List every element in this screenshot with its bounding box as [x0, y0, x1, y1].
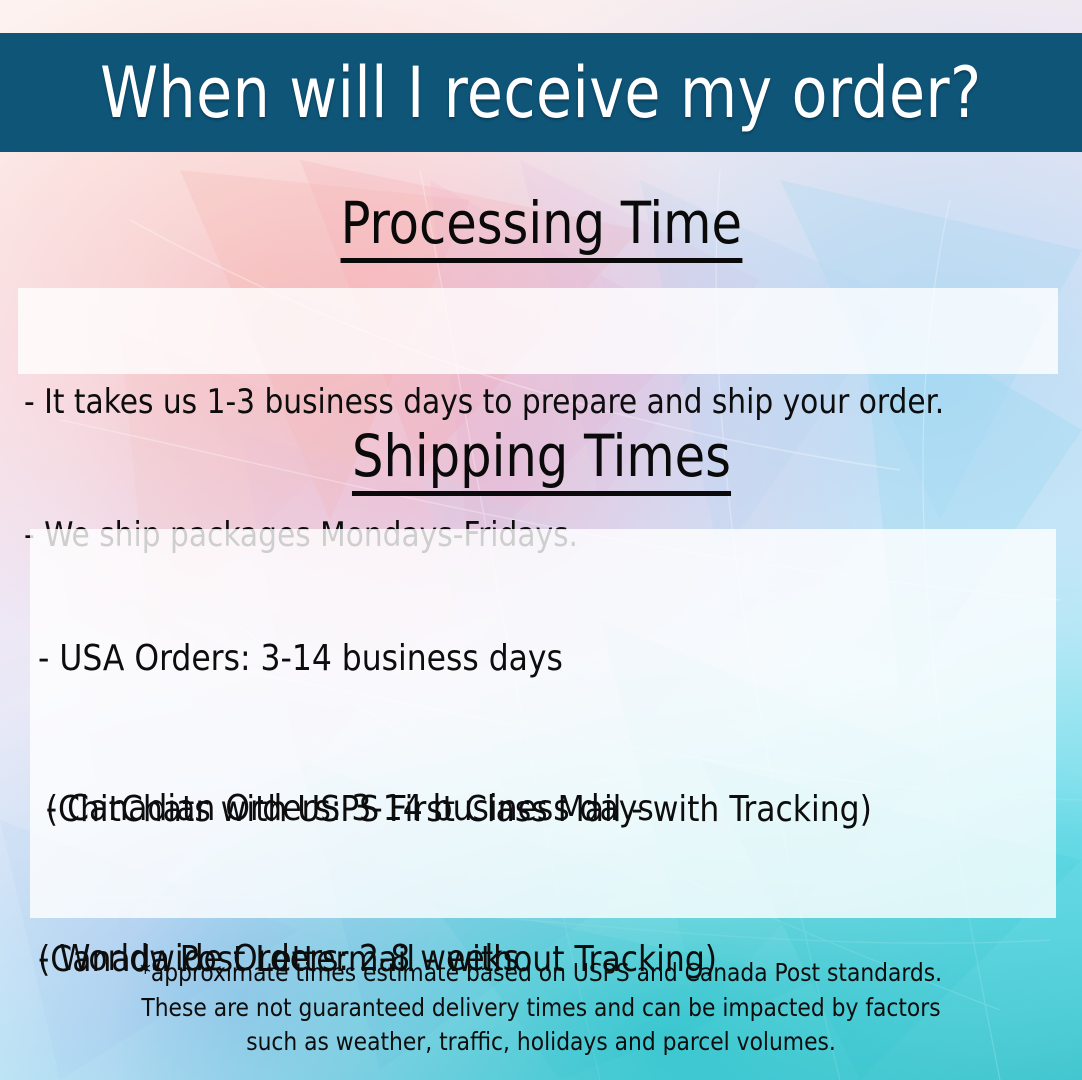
shipping-usa-line-1: - USA Orders: 3-14 business days	[38, 634, 872, 684]
footer-disclaimer-line-2: These are not guaranteed delivery times …	[16, 991, 1066, 1026]
footer-disclaimer-line-1: *approximate times estimate based on USP…	[16, 956, 1066, 991]
shipping-info-graphic: When will I receive my order? Processing…	[0, 0, 1082, 1080]
section-heading-shipping-times: Shipping Times	[0, 427, 1082, 496]
footer-disclaimer: *approximate times estimate based on USP…	[0, 956, 1082, 1060]
processing-time-line-1: - It takes us 1-3 business days to prepa…	[24, 380, 944, 424]
shipping-canada-line-1: - Canadian Orders: 3-14 business days	[38, 784, 717, 834]
section-heading-shipping-times-text: Shipping Times	[351, 427, 730, 496]
banner-title: When will I receive my order?	[100, 58, 981, 128]
section-heading-processing-time-text: Processing Time	[340, 194, 741, 263]
header-banner: When will I receive my order?	[0, 33, 1082, 152]
section-heading-processing-time: Processing Time	[0, 194, 1082, 263]
footer-disclaimer-line-3: such as weather, traffic, holidays and p…	[16, 1025, 1066, 1060]
